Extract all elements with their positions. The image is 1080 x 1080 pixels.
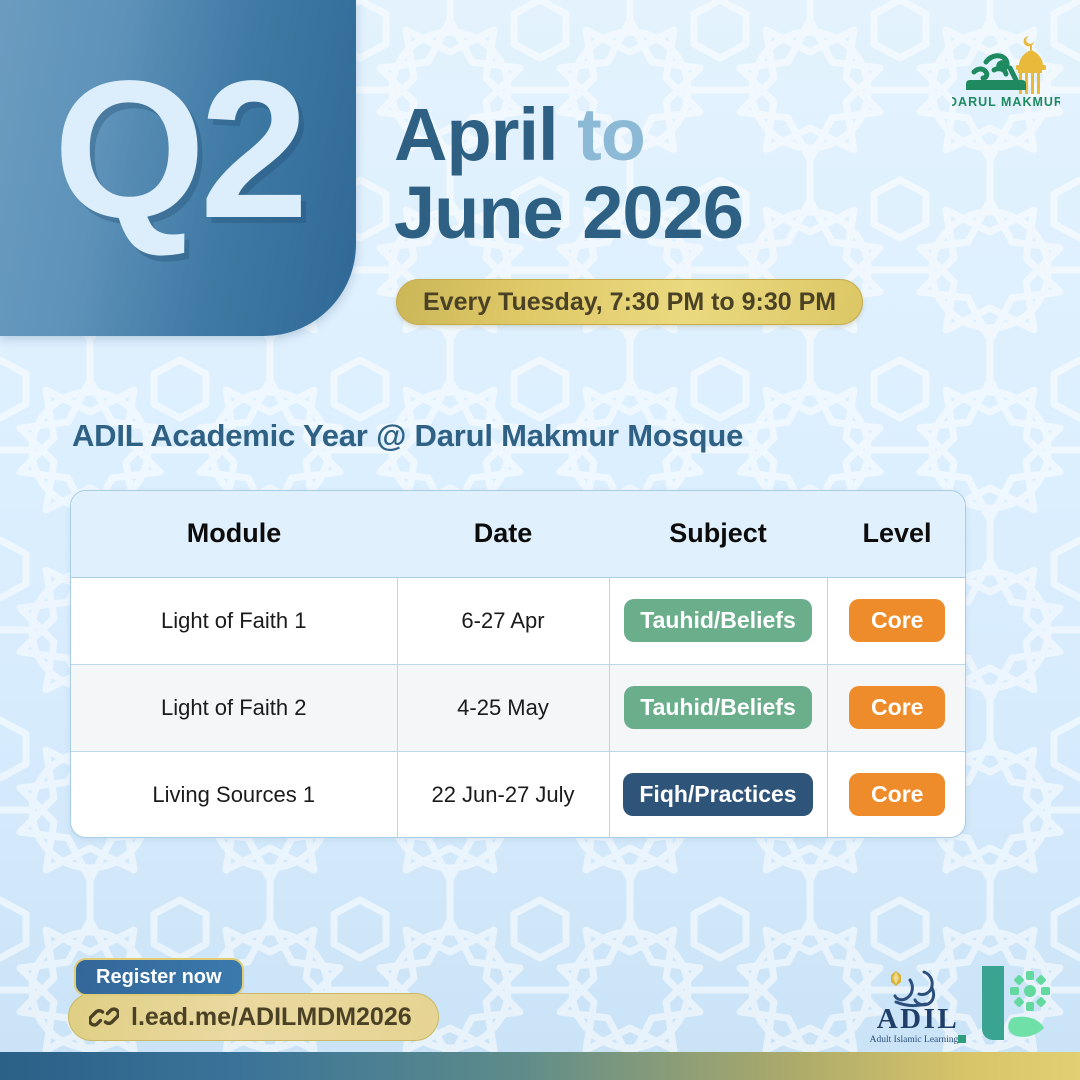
- headline-line-1: April to: [394, 96, 743, 174]
- subject-badge: Fiqh/Practices: [623, 773, 812, 816]
- register-now-button[interactable]: Register now: [74, 958, 244, 996]
- table-row: Light of Faith 1 6-27 Apr Tauhid/Beliefs…: [71, 577, 966, 664]
- column-header-level: Level: [827, 491, 966, 577]
- subject-badge: Tauhid/Beliefs: [624, 686, 812, 729]
- bottom-accent-bar: [0, 1052, 1080, 1080]
- register-link[interactable]: l.ead.me/ADILMDM2026: [68, 993, 439, 1041]
- cell-date: 6-27 Apr: [397, 577, 609, 664]
- chain-link-icon: [89, 1002, 119, 1032]
- quarter-label: Q2: [28, 52, 328, 248]
- table-row: Light of Faith 2 4-25 May Tauhid/Beliefs…: [71, 664, 966, 751]
- darul-makmur-logo: DARUL MAKMUR: [952, 22, 1060, 114]
- level-badge: Core: [849, 686, 945, 729]
- poster-canvas: Q2 DARUL MAKMUR April to: [0, 0, 1080, 1080]
- cell-subject: Fiqh/Practices: [609, 751, 827, 838]
- rosette-icon: [1010, 971, 1050, 1011]
- headline-month-start: April: [394, 93, 558, 176]
- column-header-date: Date: [397, 491, 609, 577]
- cell-date: 22 Jun-27 July: [397, 751, 609, 838]
- adil-logo: ADIL Adult Islamic Learning: [866, 958, 972, 1050]
- table-header-row: Module Date Subject Level: [71, 491, 966, 577]
- leaf-rosette-logo: [978, 960, 1054, 1046]
- cell-subject: Tauhid/Beliefs: [609, 664, 827, 751]
- level-badge: Core: [849, 773, 945, 816]
- adil-logo-tagline: Adult Islamic Learning: [870, 1035, 959, 1045]
- cell-level: Core: [827, 751, 966, 838]
- cell-module: Light of Faith 2: [71, 664, 397, 751]
- quarter-panel: Q2: [0, 0, 356, 336]
- headline-connector: to: [577, 93, 645, 176]
- level-badge: Core: [849, 599, 945, 642]
- cell-level: Core: [827, 577, 966, 664]
- schedule-table: Module Date Subject Level Light of Faith…: [70, 490, 966, 838]
- adil-logo-square: [958, 1035, 966, 1043]
- cell-module: Light of Faith 1: [71, 577, 397, 664]
- schedule-text: Every Tuesday, 7:30 PM to 9:30 PM: [423, 288, 836, 317]
- register-link-text: l.ead.me/ADILMDM2026: [131, 1003, 412, 1032]
- subject-badge: Tauhid/Beliefs: [624, 599, 812, 642]
- cell-level: Core: [827, 664, 966, 751]
- cell-module: Living Sources 1: [71, 751, 397, 838]
- page-title: ADIL Academic Year @ Darul Makmur Mosque: [72, 418, 743, 454]
- cell-subject: Tauhid/Beliefs: [609, 577, 827, 664]
- column-header-subject: Subject: [609, 491, 827, 577]
- mosque-logo-name: DARUL MAKMUR: [952, 95, 1060, 109]
- schedule-badge: Every Tuesday, 7:30 PM to 9:30 PM: [396, 279, 863, 325]
- headline: April to June 2026: [394, 96, 743, 252]
- adil-logo-name: ADIL: [877, 1003, 960, 1035]
- column-header-module: Module: [71, 491, 397, 577]
- headline-line-2: June 2026: [394, 174, 743, 252]
- cell-date: 4-25 May: [397, 664, 609, 751]
- table-row: Living Sources 1 22 Jun-27 July Fiqh/Pra…: [71, 751, 966, 838]
- register-now-label: Register now: [96, 966, 222, 989]
